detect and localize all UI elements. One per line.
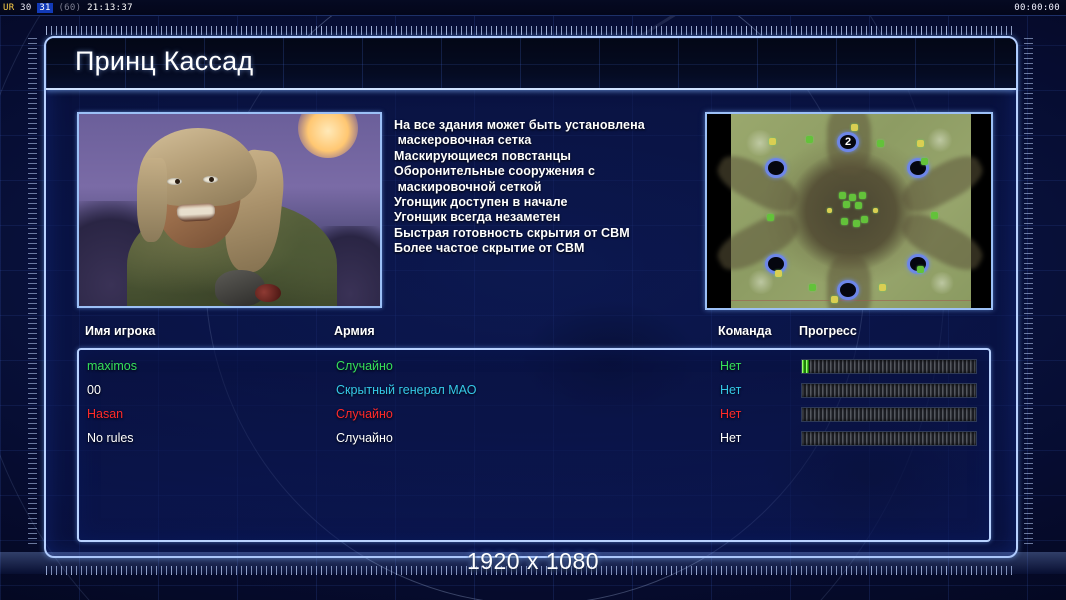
player-team[interactable]: Нет [720, 359, 741, 373]
player-army[interactable]: Скрытный генерал МАО [336, 383, 476, 397]
general-portrait [77, 112, 382, 308]
map-prop [775, 270, 782, 277]
map-prop [767, 214, 774, 221]
column-header-progress: Прогресс [799, 324, 857, 338]
description-line: Угонщик всегда незаметен [394, 210, 694, 225]
map-prop [839, 192, 846, 199]
map-prop [851, 124, 858, 131]
player-name: Hasan [87, 407, 123, 421]
session-time: 21:13:37 [87, 3, 133, 13]
map-start-position[interactable]: 2 [837, 132, 859, 152]
debug-status-bar: UR 30 31 (60) 21:13:37 00:00:00 [0, 0, 1066, 16]
map-prop [843, 201, 850, 208]
match-clock: 00:00:00 [1014, 0, 1060, 16]
map-blotch [929, 272, 955, 294]
map-prop [917, 140, 924, 147]
map-prop [849, 194, 856, 201]
portrait-teapot [215, 270, 265, 306]
map-prop [831, 296, 838, 303]
map-prop [861, 216, 868, 223]
portrait-mouth [177, 203, 216, 222]
player-name: maximos [87, 359, 137, 373]
map-prop [879, 284, 886, 291]
player-team[interactable]: Нет [720, 407, 741, 421]
map-blotch [927, 128, 953, 152]
player-progress-bar [801, 359, 977, 374]
player-progress-fill [802, 360, 809, 373]
player-progress-bar [801, 407, 977, 422]
map-prop [769, 138, 776, 145]
player-progress-bar [801, 383, 977, 398]
map-prop [873, 208, 878, 213]
table-row[interactable]: maximosСлучайноНет [79, 356, 989, 380]
player-list-header: Имя игрока Армия Команда Прогресс [46, 324, 1016, 346]
map-lane [896, 148, 989, 220]
player-team[interactable]: Нет [720, 383, 741, 397]
description-line: маскировочной сеткой [394, 180, 694, 195]
map-prop [841, 218, 848, 225]
lobby-panel: Принц Кассад На вс [44, 36, 1018, 558]
map-prop [877, 140, 884, 147]
description-line: Быстрая готовность скрытия от СВМ [394, 226, 694, 241]
page-title: Принц Кассад [75, 46, 253, 77]
column-header-team: Команда [718, 324, 772, 338]
ruler-right [1024, 38, 1033, 548]
map-prop [827, 208, 832, 213]
map-prop [917, 266, 924, 273]
description-line: Маскирующиеся повстанцы [394, 149, 694, 164]
ruler-top [46, 26, 1012, 35]
column-header-name: Имя игрока [85, 324, 155, 338]
portrait-pupil-left [175, 179, 180, 184]
description-line: Оборонительные сооружения с [394, 164, 694, 179]
map-prop [931, 212, 938, 219]
map-blotch [747, 270, 775, 294]
map-border-line [731, 300, 971, 301]
map-lane [712, 148, 805, 220]
general-description: На все здания может быть установлена мас… [394, 118, 694, 257]
player-army[interactable]: Случайно [336, 431, 393, 445]
player-team[interactable]: Нет [720, 431, 741, 445]
table-row[interactable]: No rulesСлучайноНет [79, 428, 989, 452]
description-line: Угонщик доступен в начале [394, 195, 694, 210]
player-army[interactable]: Случайно [336, 359, 393, 373]
player-progress-bar [801, 431, 977, 446]
map-prop [855, 202, 862, 209]
map-prop [853, 220, 860, 227]
map-prop [809, 284, 816, 291]
game-screen: UR 30 31 (60) 21:13:37 00:00:00 Принц Ка… [0, 0, 1066, 600]
map-prop [806, 136, 813, 143]
portrait-pupil-right [209, 177, 214, 182]
ruler-left [28, 38, 37, 548]
player-list: maximosСлучайноНет00Скрытный генерал МАО… [77, 348, 991, 542]
map-preview: 2 [705, 112, 993, 310]
player-army[interactable]: Случайно [336, 407, 393, 421]
map-lane [712, 206, 805, 278]
resolution-label: 1920 x 1080 [0, 548, 1066, 575]
fps-label-ur: UR [0, 3, 14, 13]
description-line: На все здания может быть установлена [394, 118, 694, 133]
column-header-army: Армия [334, 324, 375, 338]
fps-value-cap: (60) [58, 3, 81, 13]
fps-value-a: 30 [20, 3, 31, 13]
title-bar: Принц Кассад [46, 38, 1016, 90]
hero-row: На все здания может быть установлена мас… [46, 98, 1016, 316]
map-prop [921, 158, 928, 165]
map-prop [859, 192, 866, 199]
player-name: No rules [87, 431, 134, 445]
portrait-headwrap-side [137, 158, 167, 242]
description-line: Более частое скрытие от СВМ [394, 241, 694, 256]
map-center-resources [827, 192, 879, 234]
map-start-position[interactable] [837, 280, 859, 300]
map-preview-image: 2 [731, 114, 971, 308]
description-line: маскеровочная сетка [394, 133, 694, 148]
map-start-position[interactable] [765, 158, 787, 178]
fps-value-b: 31 [37, 3, 52, 13]
table-row[interactable]: 00Скрытный генерал МАОНет [79, 380, 989, 404]
map-start-position-label: 2 [845, 136, 851, 148]
player-name: 00 [87, 383, 101, 397]
table-row[interactable]: HasanСлучайноНет [79, 404, 989, 428]
